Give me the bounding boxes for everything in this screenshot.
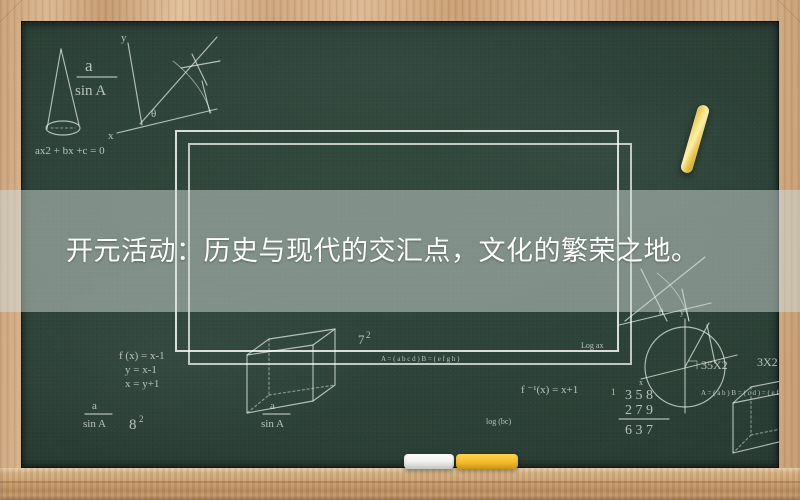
svg-text:sin A: sin A [83,418,106,430]
svg-text:x: x [639,378,643,387]
svg-text:f (x) = x-1: f (x) = x-1 [119,350,165,362]
svg-text:x = y+1: x = y+1 [125,378,159,390]
coordinate-axes-angle-drawing: y x θ [108,32,220,142]
power-8-squared: 8 2 [129,414,144,433]
svg-text:f ⁻¹(x) = x+1: f ⁻¹(x) = x+1 [521,384,578,396]
svg-text:6 3 7: 6 3 7 [625,423,653,438]
svg-text:2 7 9: 2 7 9 [625,403,653,418]
svg-text:y: y [121,32,127,44]
chalkboard-banner-image: a sin A y x θ ax2 [0,0,800,500]
yellow-chalk-piece [456,454,518,469]
matrix-label-3x2: 3X2 [757,355,778,369]
inverse-function-label: f ⁻¹(x) = x+1 [521,384,578,396]
svg-text:2: 2 [139,414,144,424]
svg-text:x: x [108,130,114,142]
svg-text:sin A: sin A [75,83,106,99]
fraction-a-over-sinA-topleft: a sin A [75,56,117,99]
function-equations-bottomleft: f (x) = x-1 y = x-1 x = y+1 [119,350,165,390]
subtraction-column: 3 5 8 2 7 9 6 3 7 1 [611,387,669,438]
svg-text:a: a [92,400,97,412]
svg-text:a: a [85,56,93,75]
white-chalk-piece [404,454,454,469]
svg-text:θ: θ [151,108,156,120]
banner-band: 开元活动：历史与现代的交汇点，文化的繁荣之地。 [0,190,800,312]
svg-text:a: a [270,400,275,412]
fraction-a-over-sinA-bottomleft-1: a sin A [83,400,112,430]
svg-text:3 5 8: 3 5 8 [625,388,653,403]
svg-text:sin A: sin A [261,418,284,430]
chalk-tray-ledge [0,468,800,500]
quadratic-equation-label: ax2 + bx +c = 0 [35,145,105,157]
banner-title: 开元活动：历史与现代的交汇点，文化的繁荣之地。 [66,238,699,265]
svg-text:8: 8 [129,417,137,433]
fraction-a-over-sinA-bottomleft-2: a sin A [261,400,290,430]
matrix-label-35x2: 35X2 [701,358,728,372]
svg-text:y = x-1: y = x-1 [125,364,157,376]
log-bc-label: log (bc) [486,417,511,426]
svg-text:1: 1 [611,387,616,397]
